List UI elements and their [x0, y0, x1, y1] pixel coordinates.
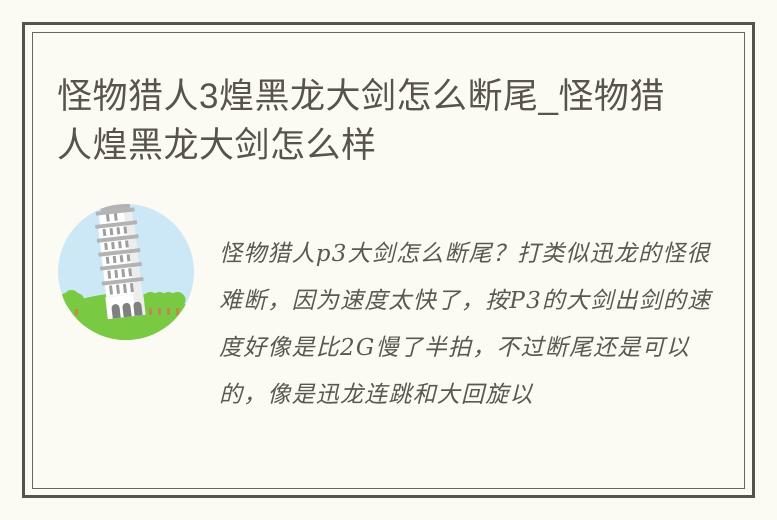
article-body-text: 怪物猎人p3大剑怎么断尾？打类似迅龙的怪很难断，因为速度太快了，按P3的大剑出剑… [219, 203, 727, 419]
page-content: 怪物猎人3煌黑龙大剑怎么断尾_怪物猎人煌黑龙大剑怎么样 [33, 33, 744, 488]
article-page: 怪物猎人3煌黑龙大剑怎么断尾_怪物猎人煌黑龙大剑怎么样 [0, 0, 777, 520]
leaning-tower-of-pisa-illustration [57, 203, 195, 341]
article-body-row: 怪物猎人p3大剑怎么断尾？打类似迅龙的怪很难断，因为速度太快了，按P3的大剑出剑… [57, 203, 727, 419]
page-title: 怪物猎人3煌黑龙大剑怎么断尾_怪物猎人煌黑龙大剑怎么样 [57, 72, 697, 170]
